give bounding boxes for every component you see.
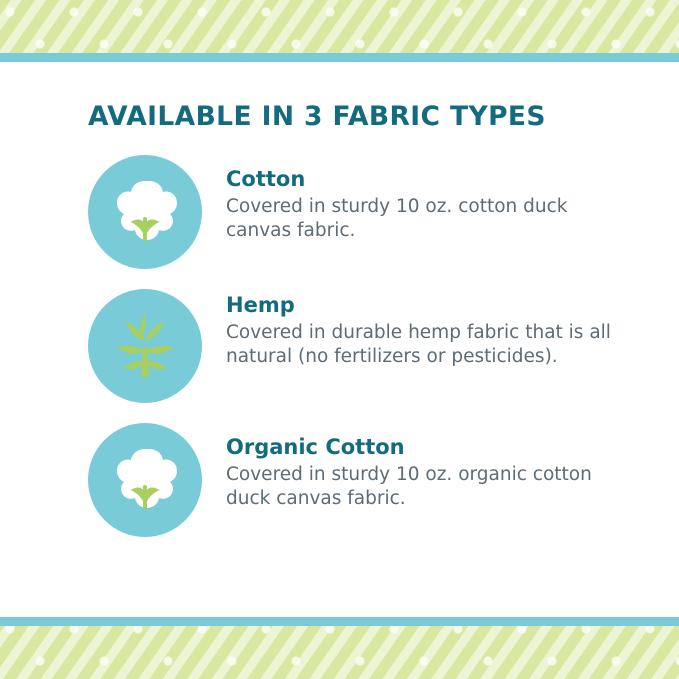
band-dot-pattern	[0, 617, 679, 679]
list-item-title: Organic Cotton	[226, 435, 639, 459]
hemp-leaf-icon	[88, 289, 202, 403]
list-item-description: Covered in sturdy 10 oz. organic cotton …	[226, 463, 626, 511]
content-area: AVAILABLE IN 3 FABRIC TYPES Cotton Cover…	[0, 62, 679, 617]
page-title: AVAILABLE IN 3 FABRIC TYPES	[88, 102, 639, 131]
decorative-band-bottom	[0, 617, 679, 679]
list-item-text: Organic Cotton Covered in sturdy 10 oz. …	[226, 421, 639, 511]
list-item: Organic Cotton Covered in sturdy 10 oz. …	[88, 421, 639, 537]
list-item-title: Cotton	[226, 167, 639, 191]
band-edge-teal	[0, 617, 679, 626]
list-item-description: Covered in sturdy 10 oz. cotton duck can…	[226, 195, 626, 243]
decorative-band-top	[0, 0, 679, 62]
list-item-description: Covered in durable hemp fabric that is a…	[226, 321, 621, 369]
list-item-title: Hemp	[226, 293, 639, 317]
cotton-boll-icon	[88, 423, 202, 537]
list-item: Hemp Covered in durable hemp fabric that…	[88, 287, 639, 403]
list-item: Cotton Covered in sturdy 10 oz. cotton d…	[88, 153, 639, 269]
band-edge-teal	[0, 53, 679, 62]
list-item-text: Cotton Covered in sturdy 10 oz. cotton d…	[226, 153, 639, 243]
cotton-boll-icon	[88, 155, 202, 269]
list-item-text: Hemp Covered in durable hemp fabric that…	[226, 287, 639, 369]
infographic-page: AVAILABLE IN 3 FABRIC TYPES Cotton Cover…	[0, 0, 679, 679]
